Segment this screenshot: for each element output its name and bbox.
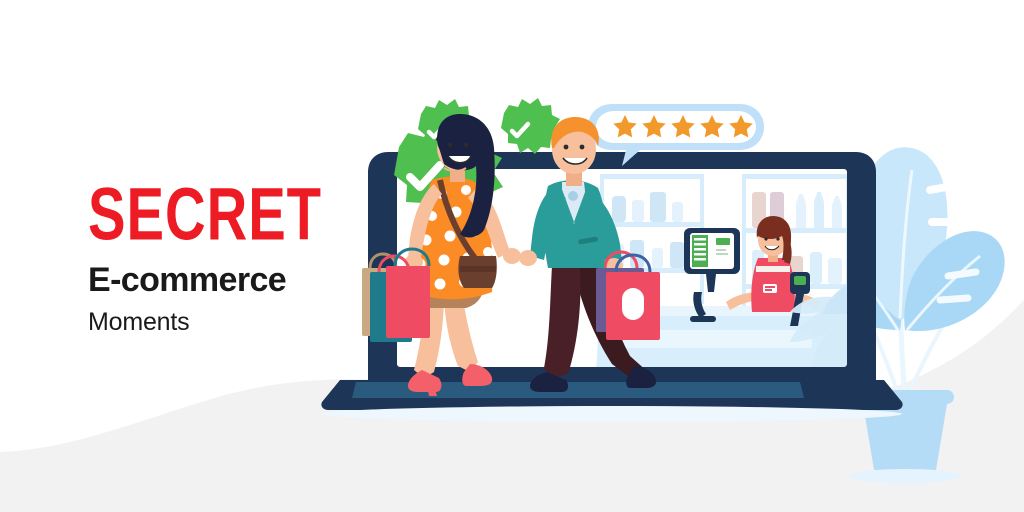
man-eye-right bbox=[580, 145, 585, 150]
man-collar-button bbox=[568, 191, 578, 201]
woman-eye-left bbox=[448, 143, 453, 148]
headline-line-2: E-commerce bbox=[88, 262, 448, 298]
woman-eye-right bbox=[464, 143, 469, 148]
man-hand-left bbox=[519, 250, 537, 266]
rating-bubble bbox=[588, 104, 764, 166]
man-leg-front bbox=[544, 266, 581, 378]
man-shopping-bags bbox=[596, 252, 660, 340]
headline-line-3: Moments bbox=[88, 308, 448, 336]
promo-banner: SECRET E-commerce Moments bbox=[0, 0, 1024, 512]
headline-block: SECRET E-commerce Moments bbox=[88, 178, 448, 336]
woman-shoe-front bbox=[408, 370, 441, 392]
verified-badge-small-right bbox=[501, 98, 560, 154]
woman-hand-right bbox=[503, 248, 521, 264]
man-character bbox=[519, 117, 660, 392]
headline-line-1: SECRET bbox=[88, 178, 437, 252]
man-eye-left bbox=[564, 145, 569, 150]
